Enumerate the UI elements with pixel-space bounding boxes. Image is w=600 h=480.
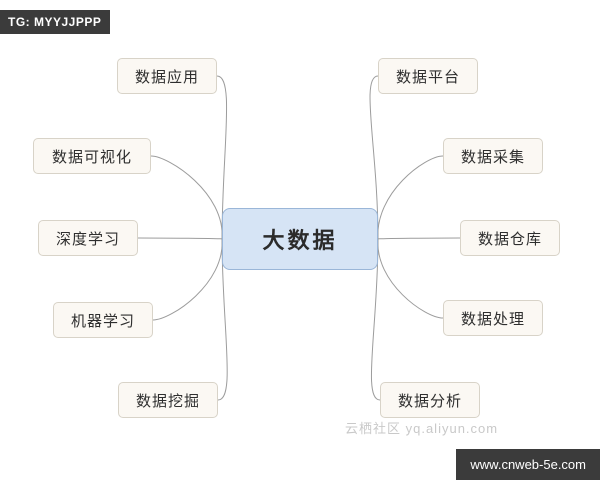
source-watermark: 云栖社区 yq.aliyun.com (345, 418, 498, 437)
mindmap-connector (378, 238, 460, 239)
mindmap-node: 数据可视化 (33, 138, 151, 174)
mindmap-center-node: 大数据 (222, 208, 378, 270)
mindmap-node: 数据仓库 (460, 220, 560, 256)
mindmap-connector (378, 239, 443, 318)
mindmap-node: 数据挖掘 (118, 382, 218, 418)
mindmap-node: 深度学习 (38, 220, 138, 256)
site-url-badge: www.cnweb-5e.com (456, 449, 600, 480)
mindmap-node: 数据处理 (443, 300, 543, 336)
mindmap-connector (378, 156, 443, 239)
mindmap-node: 数据采集 (443, 138, 543, 174)
mindmap-node: 数据应用 (117, 58, 217, 94)
telegram-badge: TG: MYYJJPPP (0, 10, 110, 34)
mindmap-connector (138, 238, 222, 239)
mindmap-connector (153, 239, 222, 320)
mindmap-connector (151, 156, 222, 239)
mindmap-node: 机器学习 (53, 302, 153, 338)
mindmap-node: 数据分析 (380, 382, 480, 418)
mindmap-node: 数据平台 (378, 58, 478, 94)
